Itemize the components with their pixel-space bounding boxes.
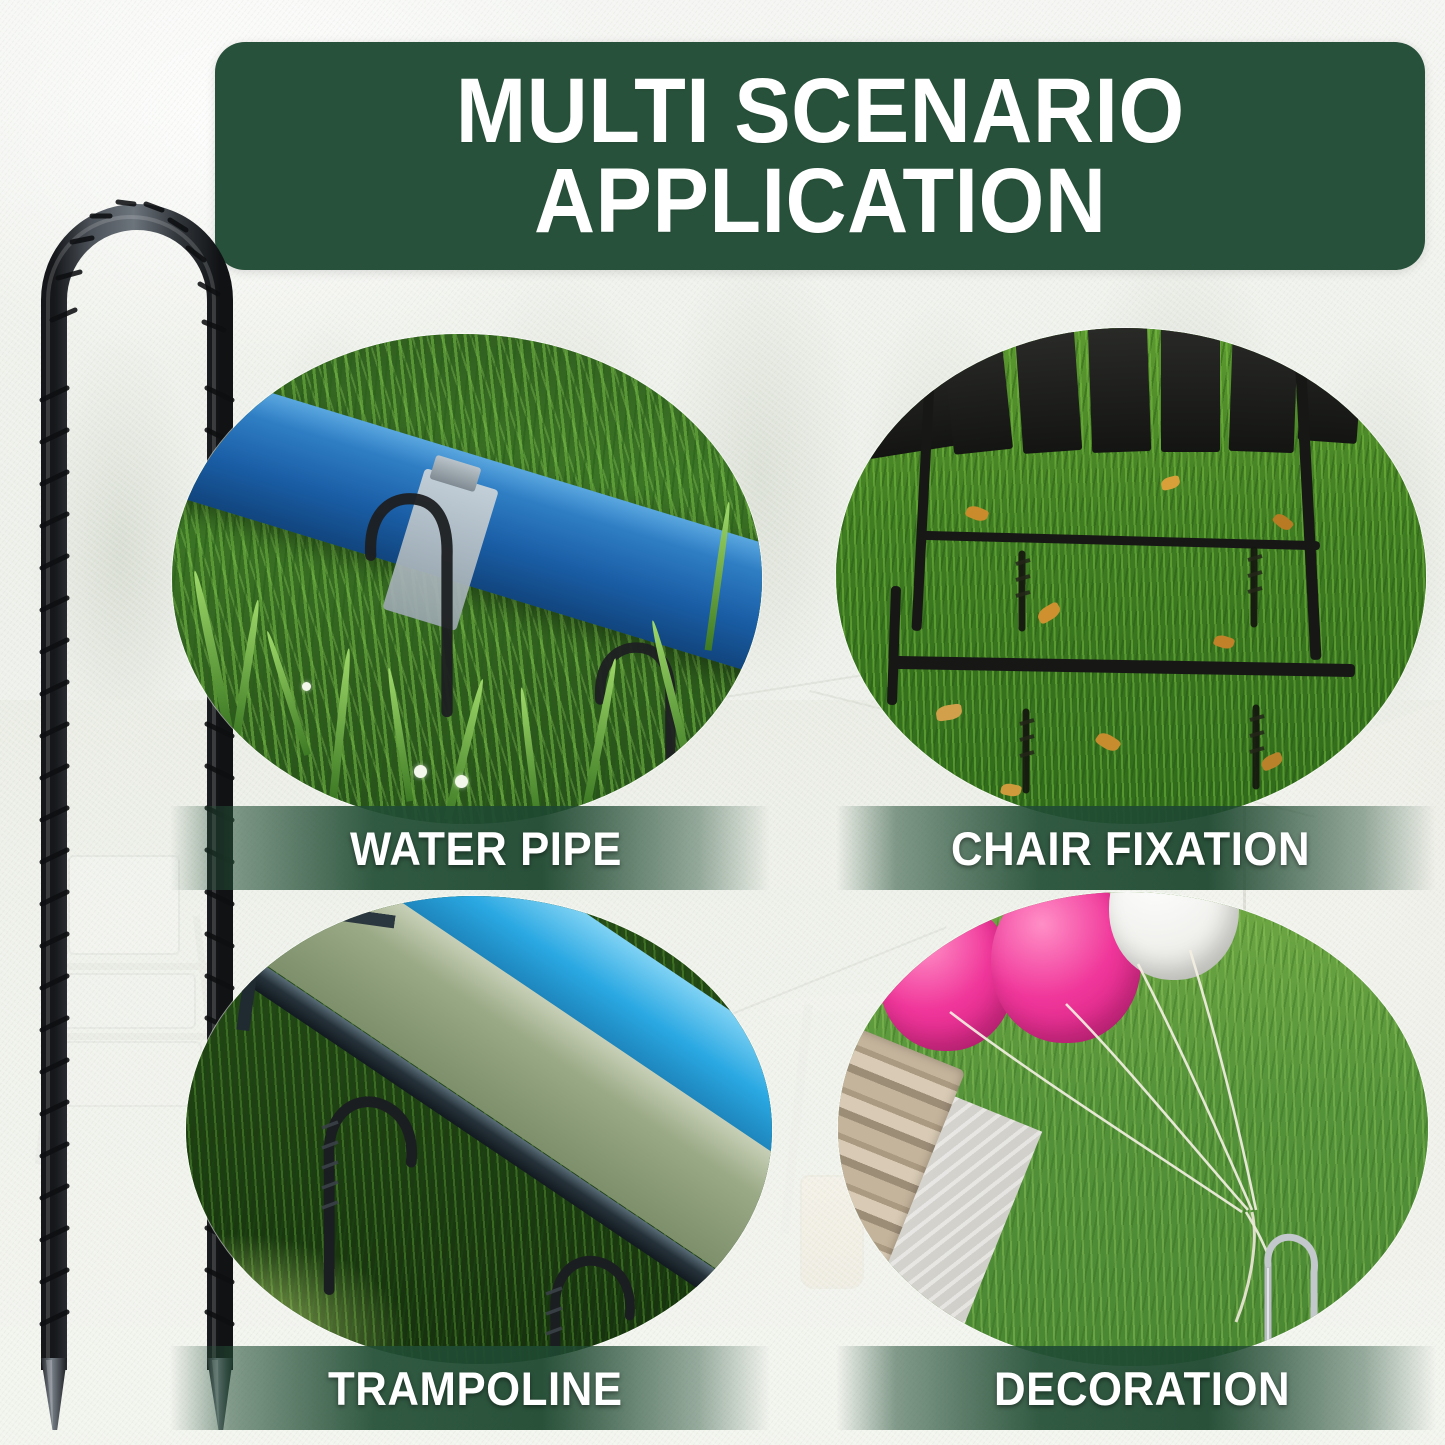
photo-content [836, 328, 1426, 824]
scenario-label-text: CHAIR FIXATION [951, 821, 1310, 876]
scenario-photo-decoration[interactable] [838, 892, 1428, 1366]
ground-stake [1268, 1237, 1315, 1344]
scenario-label-decoration: DECORATION [836, 1346, 1436, 1430]
strings-and-stake-overlay [838, 892, 1428, 1366]
scenario-label-text: DECORATION [994, 1361, 1290, 1416]
scenario-photo-chair-fixation[interactable] [836, 328, 1426, 824]
scenario-photo-water-pipe[interactable] [172, 334, 762, 824]
scenario-label-trampoline: TRAMPOLINE [170, 1346, 770, 1430]
photo-content [838, 892, 1428, 1366]
page-title-line-1: MULTI SCENARIO [456, 60, 1185, 162]
header-banner: MULTI SCENARIO APPLICATION [215, 42, 1425, 270]
photo-content [172, 334, 762, 824]
scenario-label-text: WATER PIPE [350, 821, 622, 876]
page-title: MULTI SCENARIO APPLICATION [456, 66, 1185, 246]
scenario-label-water-pipe: WATER PIPE [170, 806, 770, 890]
stake-tip-left [41, 1358, 67, 1430]
product-infographic: MULTI SCENARIO APPLICATION [0, 0, 1445, 1445]
photo-content [186, 896, 772, 1364]
page-title-line-2: APPLICATION [456, 156, 1185, 246]
stakes-overlay [836, 328, 1426, 824]
scenario-label-text: TRAMPOLINE [328, 1361, 623, 1416]
scenario-label-chair-fixation: CHAIR FIXATION [836, 806, 1436, 890]
stakes-overlay [186, 896, 772, 1364]
scenario-photo-trampoline[interactable] [186, 896, 772, 1364]
